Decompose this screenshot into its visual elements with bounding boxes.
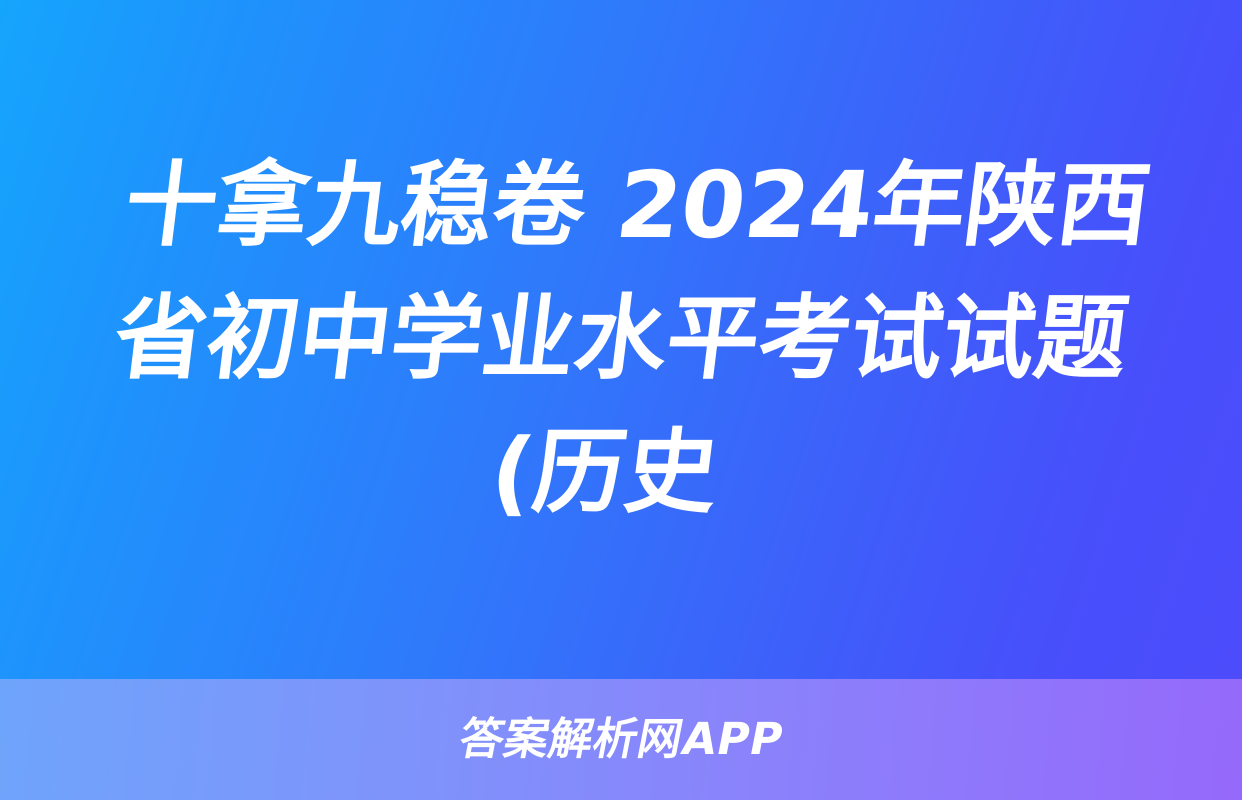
page-title: 十拿九稳卷 2024年陕西省初中学业水平考试试题(历史 [56,139,1185,539]
hero-gradient-panel: 十拿九稳卷 2024年陕西省初中学业水平考试试题(历史 [0,0,1242,679]
exam-cover-banner: 十拿九稳卷 2024年陕西省初中学业水平考试试题(历史 答案解析网APP [0,0,1242,800]
watermark-bar: 答案解析网APP [0,679,1242,800]
watermark-label: 答案解析网APP [455,718,786,762]
